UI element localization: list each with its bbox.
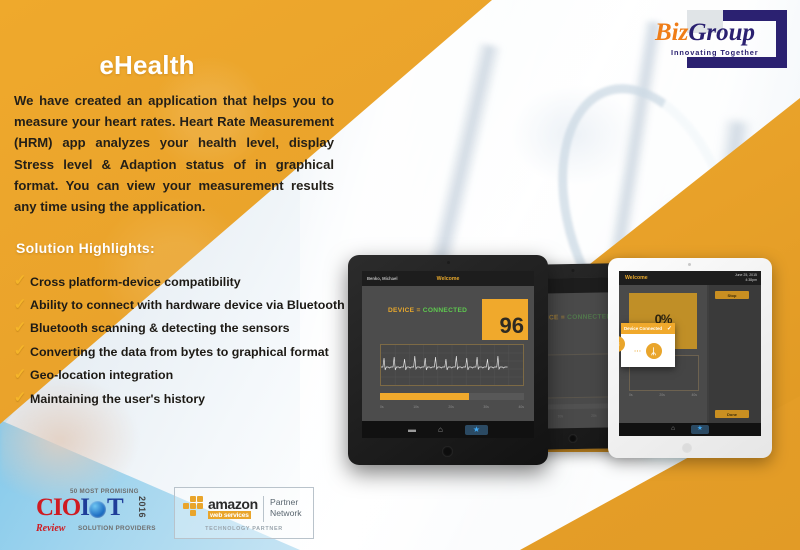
highlights-list: ✓ Cross platform-device compatibility ✓ … [10,270,370,410]
logo-text-group: Group [688,19,755,46]
heart-rate-display: 96 [482,299,528,340]
list-item-label: Bluetooth scanning & detecting the senso… [30,321,290,335]
aws-partner-network: Partner Network [270,497,302,519]
aws-subtext: web services [208,511,251,519]
chart-axis: 0s 10s 20s 30s 40s [380,405,524,409]
check-icon: ✓ [10,297,30,312]
cio-bottom-text: SOLUTION PROVIDERS [78,525,156,532]
aws-partner-badge: amazon web services Partner Network TECH… [174,487,314,539]
device-connected-dialog[interactable]: Device Connected ✓ ••• ᛦ ☃ [621,323,675,367]
axis-tick: 30s [483,405,488,409]
cio-letter-t: T [107,494,123,521]
heart-rate-value: 96 [500,315,524,337]
dialog-body: ••• ᛦ [621,334,675,367]
tablet-right[interactable]: Welcome June 25, 2015 4:38pm 0% 0s20s40s… [608,258,772,458]
header-title: Welcome [362,276,534,282]
list-item: ✓ Cross platform-device compatibility [10,270,370,293]
star-icon[interactable]: ★ [691,425,709,434]
axis-tick: 0s [380,405,384,409]
logo-tagline: Innovating Together [671,48,785,57]
app-topbar: Welcome June 25, 2015 4:38pm [619,271,761,285]
tablet-main[interactable]: Benko, Michael Welcome DEVICE = CONNECTE… [348,255,548,465]
ecg-waveform [381,345,523,385]
datetime-label: June 25, 2015 4:38pm [735,273,757,283]
tablet-main-screen[interactable]: Benko, Michael Welcome DEVICE = CONNECTE… [362,271,534,438]
slide-canvas: eHealth We have created an application t… [0,0,800,550]
home-button[interactable] [568,434,577,443]
bottom-nav[interactable]: ⌂ ★ [619,423,761,436]
check-icon: ✓ [10,320,30,335]
list-item-label: Ability to connect with hardware device … [30,298,345,312]
logo-wordmark: BizGroup [655,20,780,45]
stop-button[interactable]: Stop [715,291,749,299]
ecg-chart [380,344,524,386]
check-icon: ✓ [10,273,30,288]
bluetooth-icon: ᛦ [646,343,662,359]
home-button[interactable] [682,443,692,453]
list-item-label: Maintaining the user's history [30,392,205,406]
check-icon: ✓ [10,367,30,382]
highlights-heading: Solution Highlights: [16,240,155,256]
divider [263,496,264,522]
done-button[interactable]: Done [715,410,749,418]
page-title: eHealth [12,50,282,81]
right-panel [709,285,761,423]
front-camera-icon [688,263,691,266]
star-icon[interactable]: ★ [465,425,488,435]
axis-tick: 20s [448,405,453,409]
device-status-row: DEVICE = CONNECTED [388,307,467,314]
app-topbar: Benko, Michael Welcome [362,271,534,286]
camera-icon[interactable]: ▬ [408,426,416,434]
home-icon[interactable]: ⌂ [671,426,675,433]
device-status-value: CONNECTED [423,307,467,314]
check-icon: ✓ [10,343,30,358]
axis-tick: 40s [519,405,524,409]
tablet-right-screen[interactable]: Welcome June 25, 2015 4:38pm 0% 0s20s40s… [619,271,761,436]
front-camera-icon [447,261,450,264]
list-item: ✓ Bluetooth scanning & detecting the sen… [10,317,370,340]
aws-wordmark: amazon [208,497,258,511]
check-icon: ✓ [667,325,672,332]
list-item: ✓ Geo-location integration [10,364,370,387]
axis-tick: 10s [413,405,418,409]
home-button[interactable] [442,446,453,457]
list-item-label: Converting the data from bytes to graphi… [30,345,329,359]
network-label: Network [270,508,302,519]
cio-text: CIO [36,494,80,521]
progress-bar-fill [380,393,469,400]
description-paragraph: We have created an application that help… [14,90,334,217]
list-item-label: Cross platform-device compatibility [30,275,241,289]
chart-axis: 0s20s40s [629,393,697,397]
dialog-header: Device Connected ✓ [621,323,675,334]
cio-review-badge: 50 MOST PROMISING CIOIT 2016 Review SOLU… [36,487,146,539]
progress-bar [380,393,524,400]
aws-cubes-icon [183,496,205,514]
cio-review-text: Review [36,523,65,534]
device-status-value: CONNECTED [567,313,612,321]
list-item: ✓ Maintaining the user's history [10,387,370,410]
bottom-nav[interactable]: ▬ ⌂ ★ [362,421,534,438]
dialog-title: Device Connected [624,326,662,331]
globe-icon [89,501,106,518]
device-label: DEVICE = [388,307,421,314]
home-icon[interactable]: ⌂ [438,426,443,434]
list-item-label: Geo-location integration [30,368,173,382]
list-item: ✓ Ability to connect with hardware devic… [10,293,370,316]
cio-letter-i: I [80,494,89,521]
partner-label: Partner [270,497,302,508]
list-item: ✓ Converting the data from bytes to grap… [10,340,370,363]
connection-dots-icon: ••• [634,348,641,353]
check-icon: ✓ [10,390,30,405]
front-camera-icon [571,269,574,272]
bizgroup-logo: BizGroup Innovating Together [655,8,789,76]
logo-text-biz: Biz [655,19,688,46]
cio-year: 2016 [137,496,147,518]
aws-technology-partner: TECHNOLOGY PARTNER [175,526,313,532]
cio-wordmark: CIOIT [36,495,123,520]
time-label: 4:38pm [735,278,757,283]
